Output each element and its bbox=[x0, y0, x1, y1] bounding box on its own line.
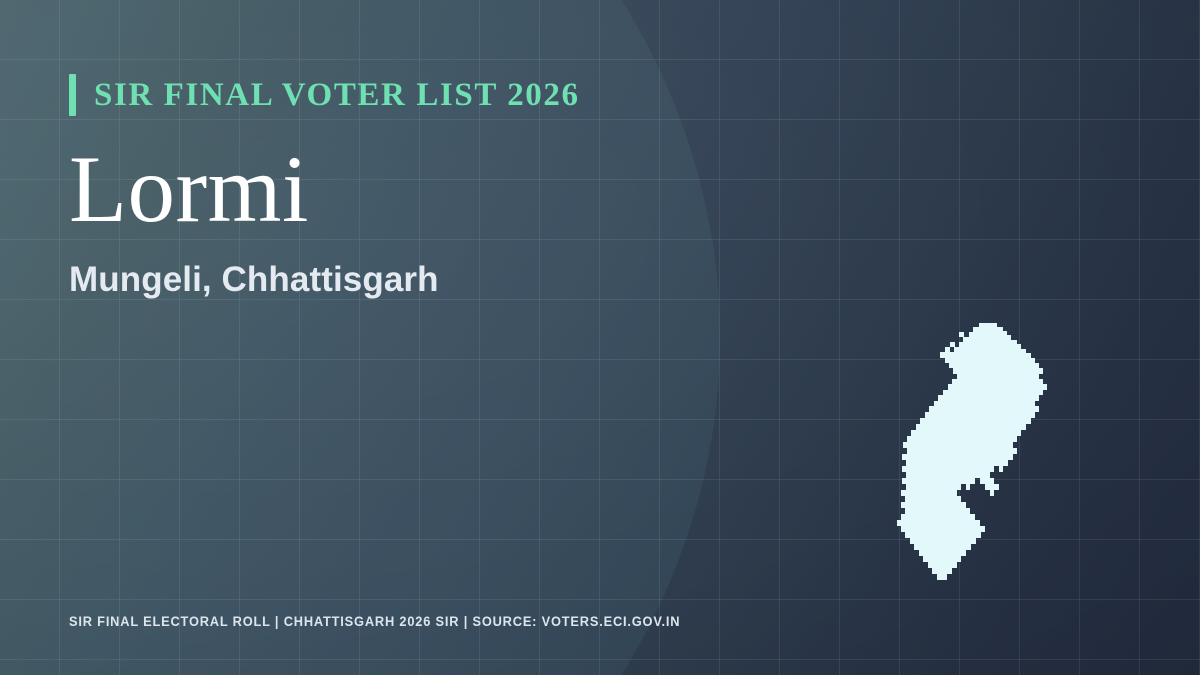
state-map bbox=[893, 318, 1055, 586]
poster-canvas: SIR FINAL VOTER LIST 2026 Lormi Mungeli,… bbox=[0, 0, 1200, 675]
accent-bar-icon bbox=[69, 74, 76, 116]
footer-source-line: SIR FINAL ELECTORAL ROLL | CHHATTISGARH … bbox=[69, 614, 680, 629]
page-title: Lormi bbox=[69, 142, 829, 237]
chhattisgarh-map-icon bbox=[897, 323, 1047, 580]
eyebrow-label: SIR FINAL VOTER LIST 2026 bbox=[94, 79, 580, 112]
page-subtitle: Mungeli, Chhattisgarh bbox=[69, 261, 829, 300]
eyebrow-row: SIR FINAL VOTER LIST 2026 bbox=[69, 72, 829, 118]
text-block: SIR FINAL VOTER LIST 2026 Lormi Mungeli,… bbox=[69, 72, 829, 300]
